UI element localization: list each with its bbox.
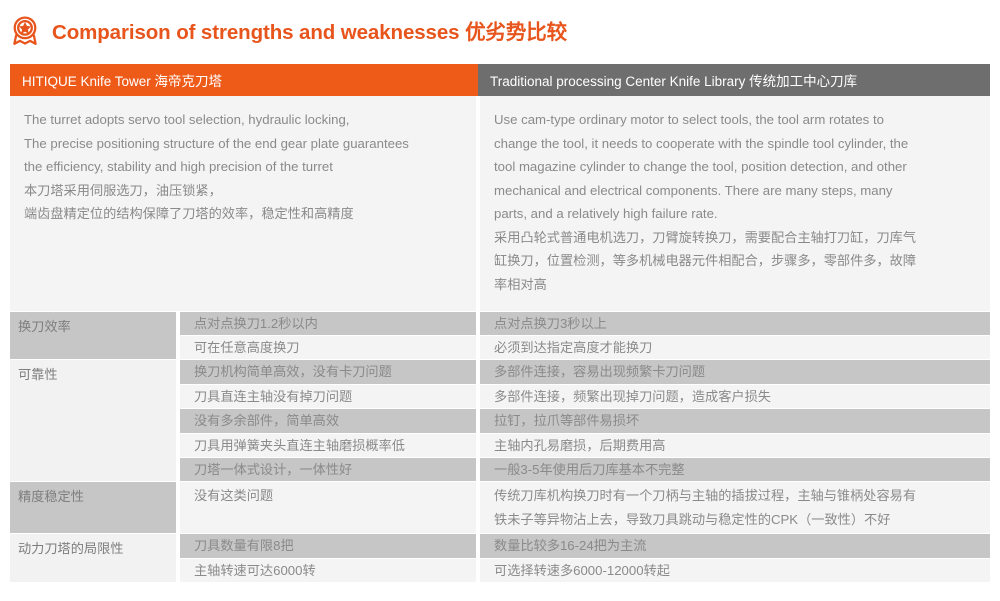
cell-ours: 没有多余部件，简单高效 (178, 409, 478, 433)
cell-ours: 刀具数量有限8把 (178, 534, 478, 558)
description-line: the efficiency, stability and high preci… (24, 155, 462, 179)
description-line: 缸换刀，位置检测，等多机械电器元件相配合，步骤多，零部件多，故障 (494, 249, 976, 273)
description-line: parts, and a relatively high failure rat… (494, 202, 976, 226)
table-row: 动力刀塔的局限性 刀具数量有限8把 数量比较多16-24把为主流 (10, 534, 990, 558)
comparison-table: HITIQUE Knife Tower 海帝克刀塔 Traditional pr… (10, 64, 990, 582)
category-cell: 可靠性 (10, 360, 178, 482)
description-line: 采用凸轮式普通电机选刀，刀臂旋转换刀，需要配合主轴打刀缸，刀库气 (494, 226, 976, 250)
cell-traditional: 传统刀库机构换刀时有一个刀柄与主轴的插拔过程，主轴与锥柄处容易有 铁未子等异物沾… (478, 482, 990, 534)
cell-traditional: 数量比较多16-24把为主流 (478, 534, 990, 558)
table-row: 精度稳定性 没有这类问题 传统刀库机构换刀时有一个刀柄与主轴的插拔过程，主轴与锥… (10, 482, 990, 534)
description-line: mechanical and electrical components. Th… (494, 179, 976, 203)
description-ours: The turret adopts servo tool selection, … (10, 96, 478, 311)
page-title-zh: 优劣势比较 (465, 21, 567, 44)
description-line: The turret adopts servo tool selection, … (24, 108, 462, 132)
cell-ours: 点对点换刀1.2秒以内 (178, 311, 478, 335)
cell-line: 铁未子等异物沾上去，导致刀具跳动与稳定性的CPK（一致性）不好 (494, 508, 990, 531)
cell-ours: 刀具直连主轴没有掉刀问题 (178, 384, 478, 408)
description-traditional: Use cam-type ordinary motor to select to… (478, 96, 990, 311)
header-cell-traditional: Traditional processing Center Knife Libr… (478, 64, 990, 96)
cell-traditional: 主轴内孔易磨损，后期费用高 (478, 433, 990, 457)
category-cell: 动力刀塔的局限性 (10, 534, 178, 582)
award-badge-star-icon (8, 13, 42, 47)
cell-ours: 主轴转速可达6000转 (178, 558, 478, 582)
cell-traditional: 多部件连接，频繁出现掉刀问题，造成客户损失 (478, 384, 990, 408)
cell-line: 传统刀库机构换刀时有一个刀柄与主轴的插拔过程，主轴与锥柄处容易有 (494, 484, 990, 507)
page-title-bar: Comparison of strengths and weaknesses 优… (0, 0, 1000, 60)
cell-traditional: 多部件连接，容易出现频繁卡刀问题 (478, 360, 990, 384)
cell-traditional: 可选择转速多6000-12000转起 (478, 558, 990, 582)
cell-traditional: 必须到达指定高度才能换刀 (478, 335, 990, 359)
description-line: 率相对高 (494, 273, 976, 297)
description-line: tool magazine cylinder to change the too… (494, 155, 976, 179)
description-row: The turret adopts servo tool selection, … (10, 96, 990, 311)
cell-ours: 刀塔一体式设计，一体性好 (178, 457, 478, 481)
description-line: change the tool, it needs to cooperate w… (494, 132, 976, 156)
cell-ours: 可在任意高度换刀 (178, 335, 478, 359)
table-row: 换刀效率 点对点换刀1.2秒以内 点对点换刀3秒以上 (10, 311, 990, 335)
cell-traditional: 一般3-5年使用后刀库基本不完整 (478, 457, 990, 481)
header-cell-ours: HITIQUE Knife Tower 海帝克刀塔 (10, 64, 478, 96)
table-header-row: HITIQUE Knife Tower 海帝克刀塔 Traditional pr… (10, 64, 990, 96)
description-line: Use cam-type ordinary motor to select to… (494, 108, 976, 132)
cell-ours: 换刀机构简单高效，没有卡刀问题 (178, 360, 478, 384)
comparison-page: Comparison of strengths and weaknesses 优… (0, 0, 1000, 601)
cell-traditional: 拉钉，拉爪等部件易损坏 (478, 409, 990, 433)
table-row: 可靠性 换刀机构简单高效，没有卡刀问题 多部件连接，容易出现频繁卡刀问题 (10, 360, 990, 384)
description-line: 端齿盘精定位的结构保障了刀塔的效率，稳定性和高精度 (24, 202, 462, 226)
description-line: The precise positioning structure of the… (24, 132, 462, 156)
description-line: 本刀塔采用伺服选刀，油压锁紧， (24, 179, 462, 203)
cell-ours: 没有这类问题 (178, 482, 478, 534)
category-cell: 精度稳定性 (10, 482, 178, 534)
category-cell: 换刀效率 (10, 311, 178, 360)
page-title: Comparison of strengths and weaknesses 优… (52, 15, 567, 45)
cell-traditional: 点对点换刀3秒以上 (478, 311, 990, 335)
page-title-en: Comparison of strengths and weaknesses (52, 21, 465, 44)
cell-ours: 刀具用弹簧夹头直连主轴磨损概率低 (178, 433, 478, 457)
